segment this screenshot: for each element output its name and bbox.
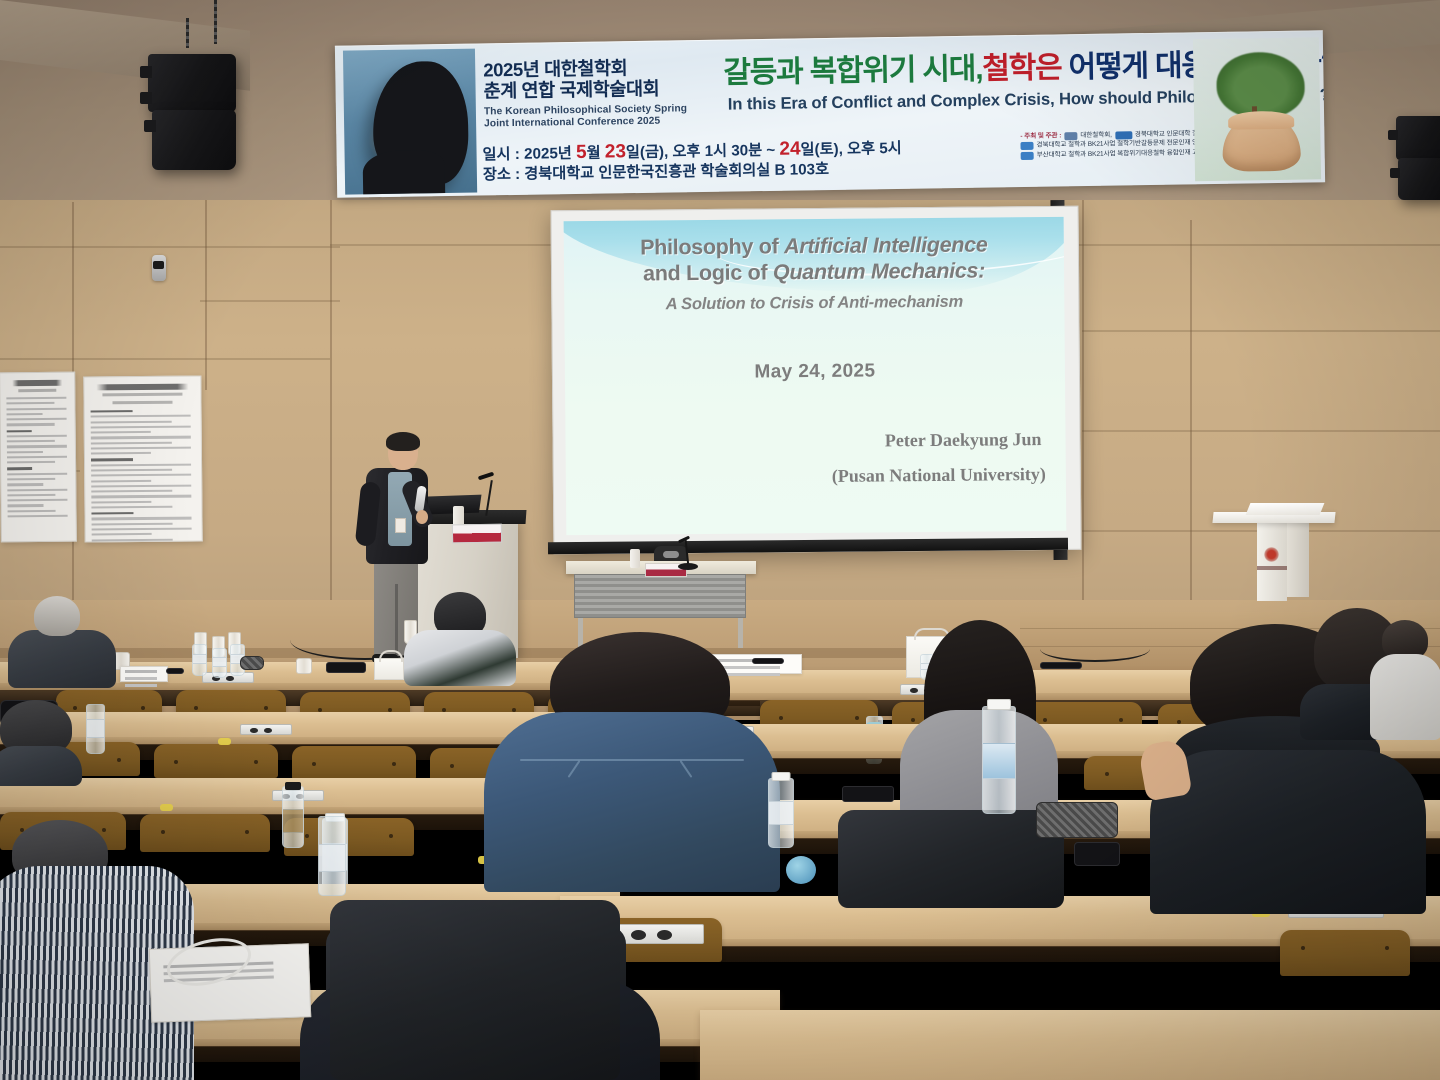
speaker-fin <box>140 92 152 104</box>
lectern-column <box>1287 523 1309 597</box>
date-day-unit: 일(금), 오후 1시 30분 ~ <box>626 142 776 161</box>
small-round-object <box>786 856 816 884</box>
speaker-chain <box>186 18 189 48</box>
wall-seam <box>1082 330 1440 332</box>
banner-date-place: 일시 : 2025년 5월 23일(금), 오후 1시 30분 ~ 24일(토)… <box>482 136 1013 185</box>
headline-part-green: 갈등과 복합위기 시대, <box>723 53 983 90</box>
date-year: 2025년 <box>524 145 572 163</box>
conference-program-poster <box>0 372 77 543</box>
auditorium-chair <box>1280 930 1410 976</box>
bk21-logo-icon <box>1021 151 1034 159</box>
wall-seam <box>0 246 340 248</box>
backpack <box>838 810 1064 908</box>
name-badge <box>395 518 406 533</box>
desk-row <box>700 1010 1440 1080</box>
wall-seam <box>0 358 330 360</box>
yellow-sticker <box>218 738 231 745</box>
conference-program-poster <box>83 375 202 542</box>
slide-title-line2: and Logic of Quantum Mechanics: <box>582 257 1046 287</box>
backpack <box>330 900 620 1080</box>
speaker-fin <box>140 66 152 78</box>
lectern-emblem-text <box>1257 566 1287 570</box>
wall-seam <box>200 300 340 302</box>
jar <box>296 658 312 674</box>
water-bottle <box>768 778 794 848</box>
ceiling-speaker-icon <box>152 110 236 170</box>
date-label: 일시 : <box>482 146 519 164</box>
banner-silhouette-image <box>343 49 477 195</box>
wall-sensor-icon <box>152 255 166 281</box>
speaker-fin <box>1388 130 1398 140</box>
pencil-case <box>1036 802 1118 838</box>
banner-org-en-line2: Joint International Conference 2025 <box>484 115 734 131</box>
paper-cup <box>630 549 640 568</box>
poster-subtitle-bar <box>102 393 182 397</box>
audience-person <box>1376 620 1440 740</box>
water-bottle <box>318 816 346 896</box>
ceiling-speaker-icon <box>148 54 236 112</box>
speaker-chain <box>214 0 217 44</box>
conference-banner: 2025년 대한철학회 춘계 연합 국제학술대회 The Korean Phil… <box>335 30 1325 198</box>
speaker-fin <box>144 120 156 132</box>
bk21-logo-icon <box>1020 142 1033 150</box>
yellow-sticker <box>160 804 173 811</box>
desk-power-outlet <box>202 672 254 683</box>
slide-affiliation: (Pusan National University) <box>584 464 1048 489</box>
wall-seam <box>1082 430 1440 432</box>
banner-tree-hand-image <box>1193 37 1321 181</box>
society-logo-icon <box>1064 132 1077 140</box>
poster-title-bar <box>96 384 188 391</box>
auditorium-chair <box>154 744 278 778</box>
date-end-day: 24 <box>779 138 800 159</box>
knu-logo-icon <box>1115 131 1132 139</box>
wall-seam-vertical <box>330 200 332 640</box>
date-month: 5 <box>576 142 587 163</box>
phone <box>326 662 366 673</box>
poster-subtitle-bar <box>18 389 56 392</box>
ceiling-speaker-icon <box>1398 158 1440 200</box>
remote-control <box>166 668 184 674</box>
water-bottle <box>212 648 227 678</box>
date-month-unit: 월 <box>587 145 601 162</box>
audience-person <box>484 632 784 892</box>
slide-subtitle: A Solution to Crisis of Anti-mechanism <box>582 292 1046 315</box>
wall-seam-vertical <box>1082 200 1084 620</box>
speaker-fin <box>1390 168 1400 178</box>
water-bottle <box>982 706 1016 814</box>
slide-date: May 24, 2025 <box>583 359 1047 385</box>
slide-author: Peter Daekyung Jun <box>583 429 1047 454</box>
audience-person <box>8 596 118 688</box>
phone <box>842 786 894 802</box>
paper-bag <box>374 658 404 680</box>
water-bottle <box>192 644 207 676</box>
university-emblem-icon <box>1264 547 1279 562</box>
slide-title: Philosophy of Artificial Intelligence an… <box>582 231 1046 287</box>
front-table-panel <box>574 574 746 618</box>
lectern-slope <box>1246 503 1325 515</box>
tablet <box>1074 842 1120 866</box>
banner-organization-korean: 2025년 대한철학회 춘계 연합 국제학술대회 <box>483 56 712 102</box>
papers <box>120 666 168 682</box>
fabric-pouch <box>240 656 264 670</box>
projection-screen: Philosophy of Artificial Intelligence an… <box>551 206 1082 555</box>
poster-title-bar <box>12 380 62 387</box>
audience-person <box>0 700 78 772</box>
banner-organization-english: The Korean Philosophical Society Spring … <box>484 103 734 132</box>
wall-seam-vertical <box>1190 220 1192 620</box>
lectern-column <box>1257 523 1287 601</box>
host-1: 대한철학회, <box>1080 131 1112 141</box>
slide-title-line1: Philosophy of Artificial Intelligence <box>582 231 1046 261</box>
speaker-name-placard <box>452 524 502 544</box>
date-day: 23 <box>605 141 626 162</box>
lecture-hall-photo: 2025년 대한철학회 춘계 연합 국제학술대회 The Korean Phil… <box>0 0 1440 1080</box>
date-end-rest: 일(토), 오후 5시 <box>800 140 901 159</box>
desk-power-outlet <box>240 724 292 735</box>
microphone-base <box>678 563 698 570</box>
ceiling-speaker-icon <box>1396 116 1440 160</box>
wall-seam-vertical <box>205 200 207 390</box>
soda-bottle <box>282 786 304 848</box>
headline-part-red: 철학은 <box>982 51 1062 85</box>
presentation-slide: Philosophy of Artificial Intelligence an… <box>564 217 1067 535</box>
auditorium-chair <box>292 746 416 780</box>
water-bottle <box>86 704 105 754</box>
banner-org-line2: 춘계 연합 국제학술대회 <box>483 77 711 102</box>
